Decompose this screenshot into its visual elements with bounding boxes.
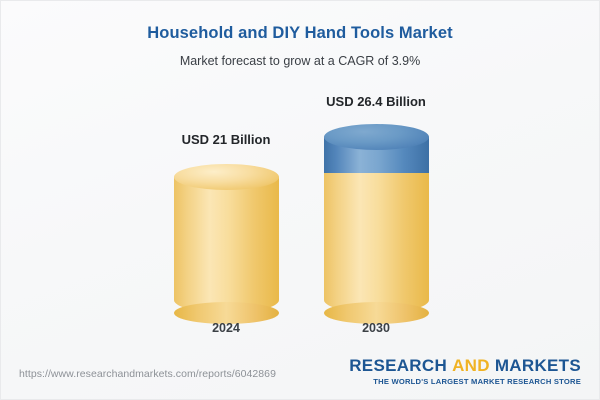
bar-value-label-2024: USD 21 Billion xyxy=(136,132,316,147)
plot-area: USD 21 Billion 2024 USD 26.4 Billion 203… xyxy=(1,1,600,346)
logo-wordmark: RESEARCH AND MARKETS xyxy=(349,356,581,375)
logo-word-and: AND xyxy=(452,356,490,375)
bar-top-cap-2030 xyxy=(324,124,429,150)
bar-body-base-2030 xyxy=(324,173,429,313)
bar-cylinder-2024[interactable] xyxy=(174,164,279,313)
brand-logo[interactable]: RESEARCH AND MARKETS THE WORLD'S LARGEST… xyxy=(349,356,581,387)
logo-word-research: RESEARCH xyxy=(349,356,447,375)
bar-value-label-2030: USD 26.4 Billion xyxy=(286,94,466,109)
chart-card: Household and DIY Hand Tools Market Mark… xyxy=(0,0,600,400)
bar-top-cap-2024 xyxy=(174,164,279,190)
report-url[interactable]: https://www.researchandmarkets.com/repor… xyxy=(19,368,276,380)
bar-cylinder-2030[interactable] xyxy=(324,124,429,313)
bar-body-base-2024 xyxy=(174,177,279,313)
logo-word-markets: MARKETS xyxy=(495,356,581,375)
logo-tagline: THE WORLD'S LARGEST MARKET RESEARCH STOR… xyxy=(349,377,581,387)
chart-footer: https://www.researchandmarkets.com/repor… xyxy=(1,347,599,399)
category-label-2030: 2030 xyxy=(286,321,466,335)
